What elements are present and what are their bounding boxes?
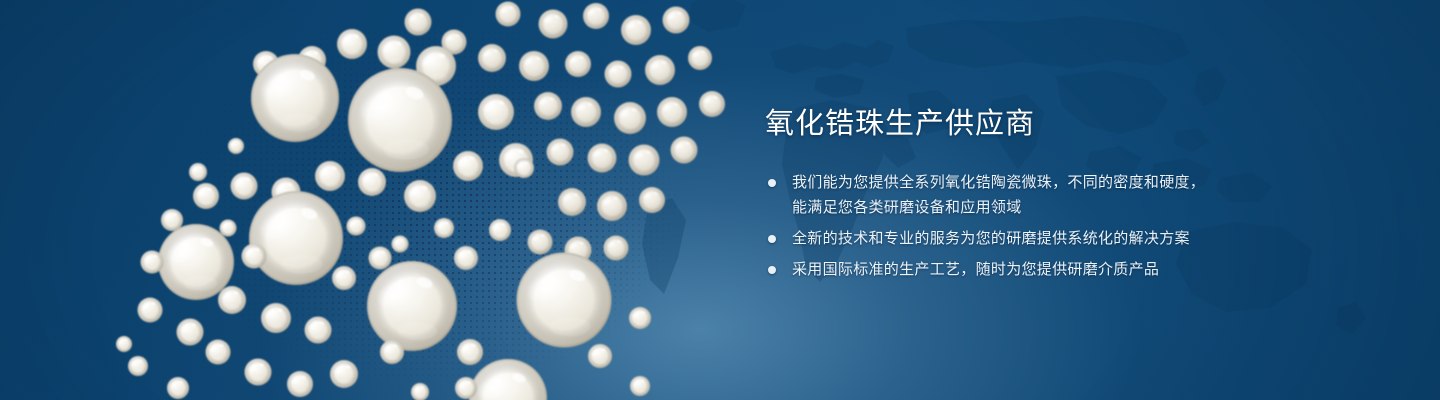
vignette-overlay: [0, 0, 1440, 400]
hero-banner: 氧化锆珠生产供应商 我们能为您提供全系列氧化锆陶瓷微珠，不同的密度和硬度， 能满…: [0, 0, 1440, 400]
